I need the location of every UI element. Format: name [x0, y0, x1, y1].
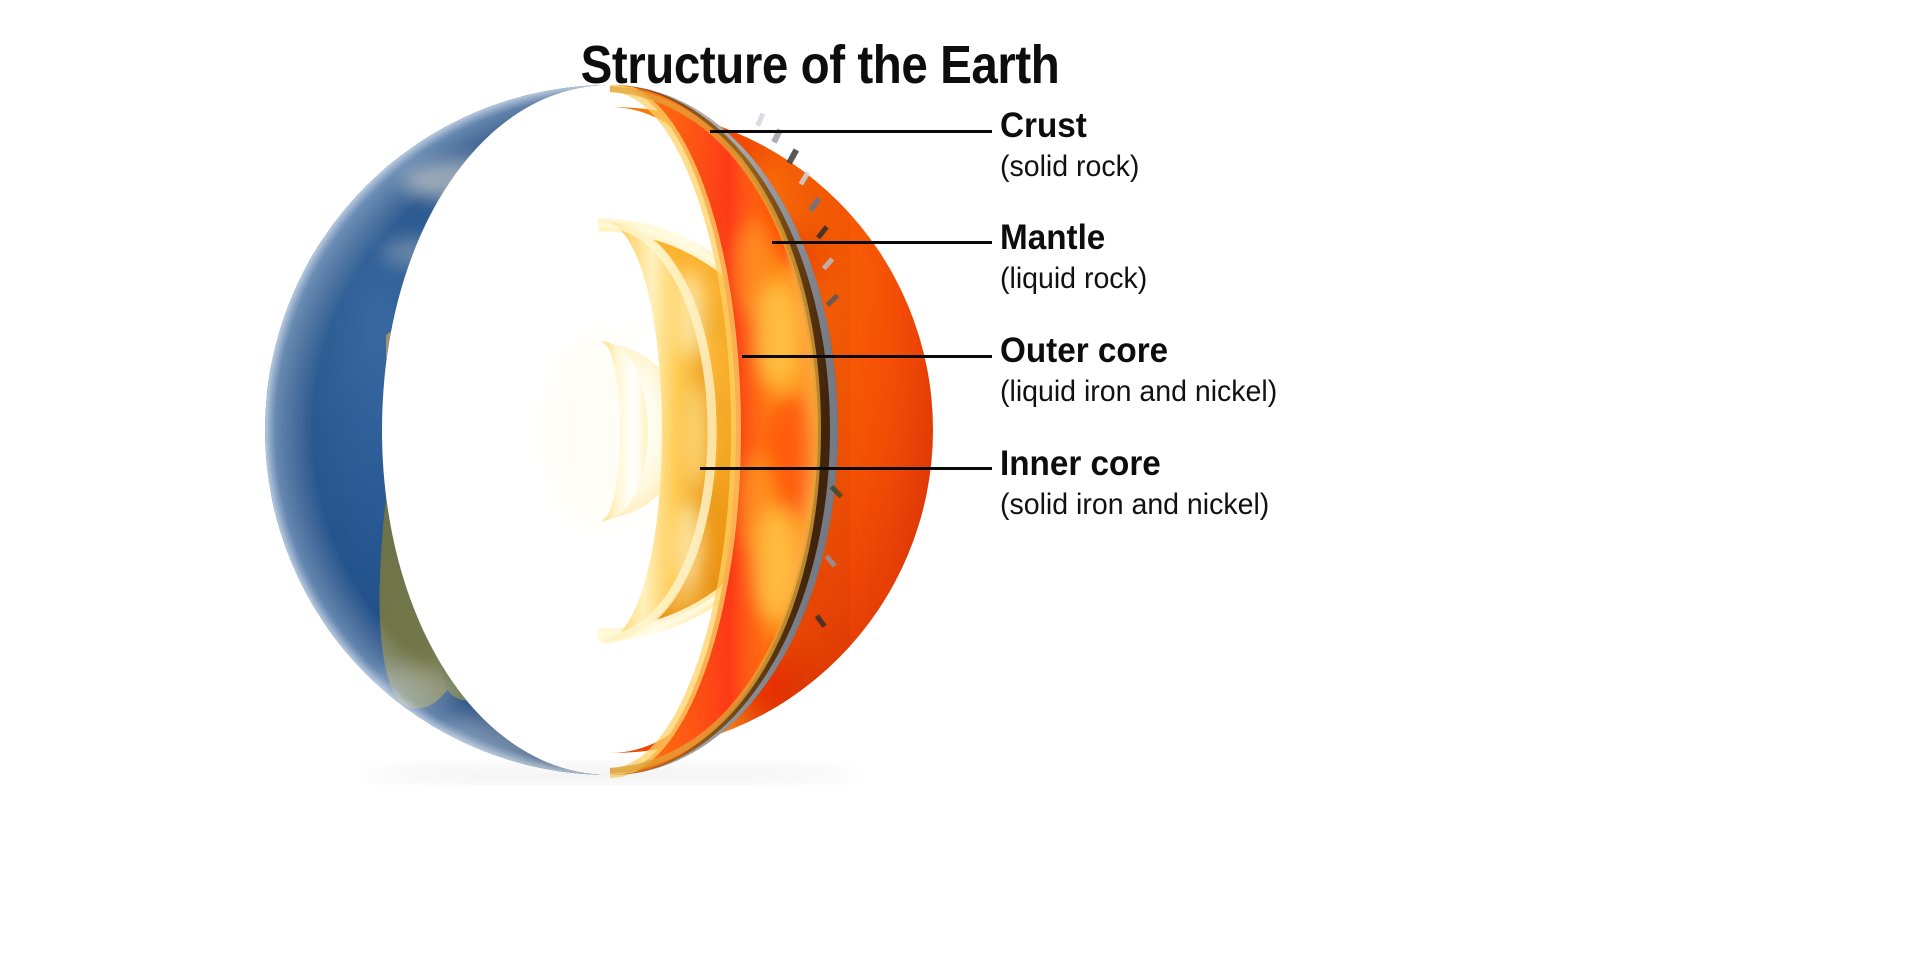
- earth-globe: [265, 85, 955, 785]
- earth-cutaway-illustration: [150, 85, 1010, 785]
- leader-line-crust: [710, 130, 992, 133]
- callout-crust-subtitle: (solid rock): [1000, 150, 1139, 183]
- callout-mantle: Mantle (liquid rock): [1000, 220, 1155, 295]
- leader-line-outer-core: [742, 355, 992, 358]
- callout-crust-title: Crust: [1000, 108, 1139, 145]
- leader-line-mantle: [772, 241, 992, 244]
- callout-inner-core-title: Inner core: [1000, 446, 1269, 483]
- callout-mantle-subtitle: (liquid rock): [1000, 262, 1147, 295]
- callout-outer-core-title: Outer core: [1000, 333, 1277, 370]
- callout-crust: Crust (solid rock): [1000, 108, 1147, 183]
- callout-labels: Crust (solid rock) Mantle (liquid rock) …: [1000, 0, 1560, 960]
- callout-outer-core: Outer core (liquid iron and nickel): [1000, 333, 1292, 408]
- callout-inner-core-subtitle: (solid iron and nickel): [1000, 488, 1269, 521]
- callout-outer-core-subtitle: (liquid iron and nickel): [1000, 375, 1277, 408]
- callout-inner-core: Inner core (solid iron and nickel): [1000, 446, 1283, 521]
- diagram-canvas: Structure of the Earth: [0, 0, 1920, 960]
- leader-line-inner-core: [700, 467, 992, 470]
- callout-mantle-title: Mantle: [1000, 220, 1147, 257]
